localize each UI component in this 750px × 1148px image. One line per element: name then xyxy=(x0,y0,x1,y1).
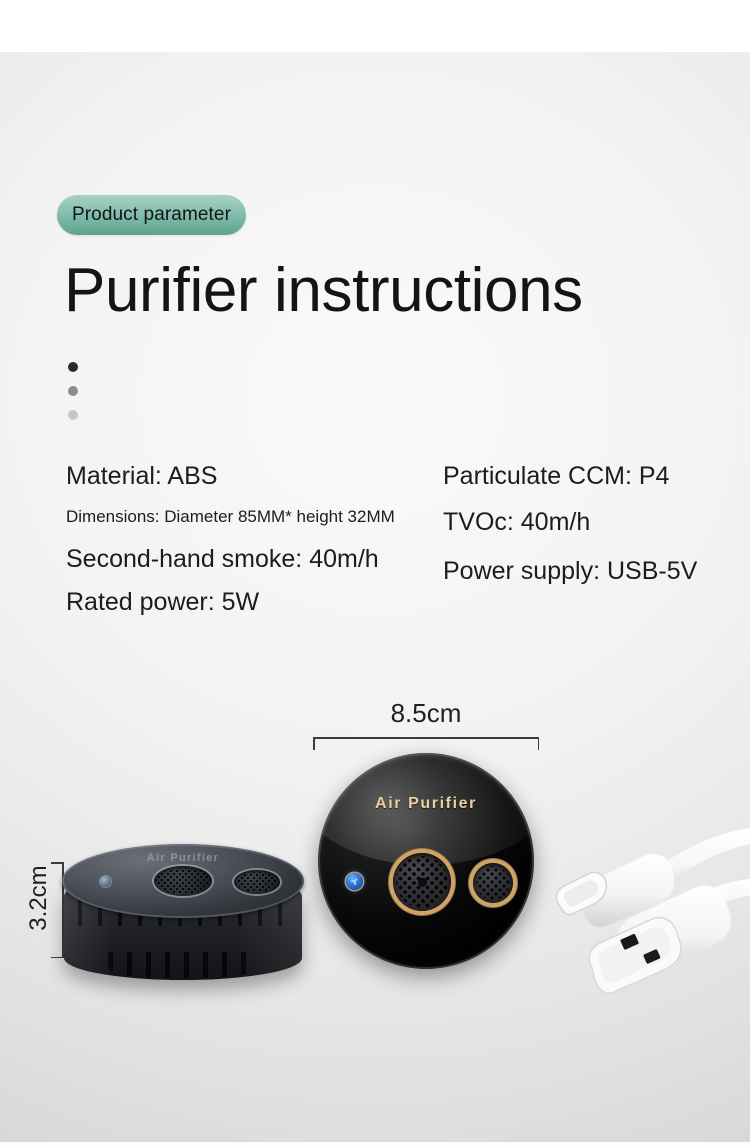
spec-item-tvoc: TVOc: 40m/h xyxy=(443,508,743,538)
dot-icon xyxy=(68,362,78,372)
purifier-top-label: Air Purifier xyxy=(62,852,304,864)
spec-column-left: Material: ABS Dimensions: Diameter 85MM*… xyxy=(66,462,436,618)
spec-item-dimensions: Dimensions: Diameter 85MM* height 32MM xyxy=(66,507,436,527)
grille-mesh xyxy=(156,868,210,894)
section-badge-label: Product parameter xyxy=(72,204,231,226)
dot-icon xyxy=(68,386,78,396)
section-badge: Product parameter xyxy=(57,195,246,235)
top-white-band xyxy=(0,0,750,52)
page-title: Purifier instructions xyxy=(64,258,583,323)
spec-item-material: Material: ABS xyxy=(66,462,436,492)
bracket-tick-left xyxy=(313,737,315,750)
bottom-white-band xyxy=(0,1142,750,1148)
grille-mesh xyxy=(236,872,278,892)
dot-icon xyxy=(68,410,78,420)
spec-column-right: Particulate CCM: P4 TVOc: 40m/h Power su… xyxy=(443,462,743,587)
purifier-front-view: Air Purifier xyxy=(318,753,534,969)
air-outlet-grille-large xyxy=(154,866,212,896)
purifier-perspective-view: Air Purifier xyxy=(58,840,308,1005)
width-dimension-label: 8.5cm xyxy=(313,698,539,729)
specification-list: Material: ABS Dimensions: Diameter 85MM*… xyxy=(0,462,750,642)
device-rim xyxy=(318,753,534,969)
decorative-dots xyxy=(68,362,78,434)
spec-item-particulate-ccm: Particulate CCM: P4 xyxy=(443,462,743,492)
width-dimension-callout: 8.5cm xyxy=(313,698,539,751)
height-dimension-label: 3.2cm xyxy=(25,850,53,946)
bracket-tick-right xyxy=(538,737,540,750)
usb-cable-image xyxy=(548,822,750,1004)
spec-item-rated-power: Rated power: 5W xyxy=(66,588,436,618)
air-outlet-grille-small xyxy=(234,870,280,894)
product-parameter-page: Product parameter Purifier instructions … xyxy=(0,0,750,1148)
spec-item-second-hand-smoke: Second-hand smoke: 40m/h xyxy=(66,545,436,575)
power-indicator-icon xyxy=(100,876,111,887)
purifier-top-surface: Air Purifier xyxy=(62,844,304,918)
width-bracket-icon xyxy=(313,737,539,751)
spec-item-power-supply: Power supply: USB-5V xyxy=(443,557,743,587)
bracket-bar xyxy=(313,737,539,739)
